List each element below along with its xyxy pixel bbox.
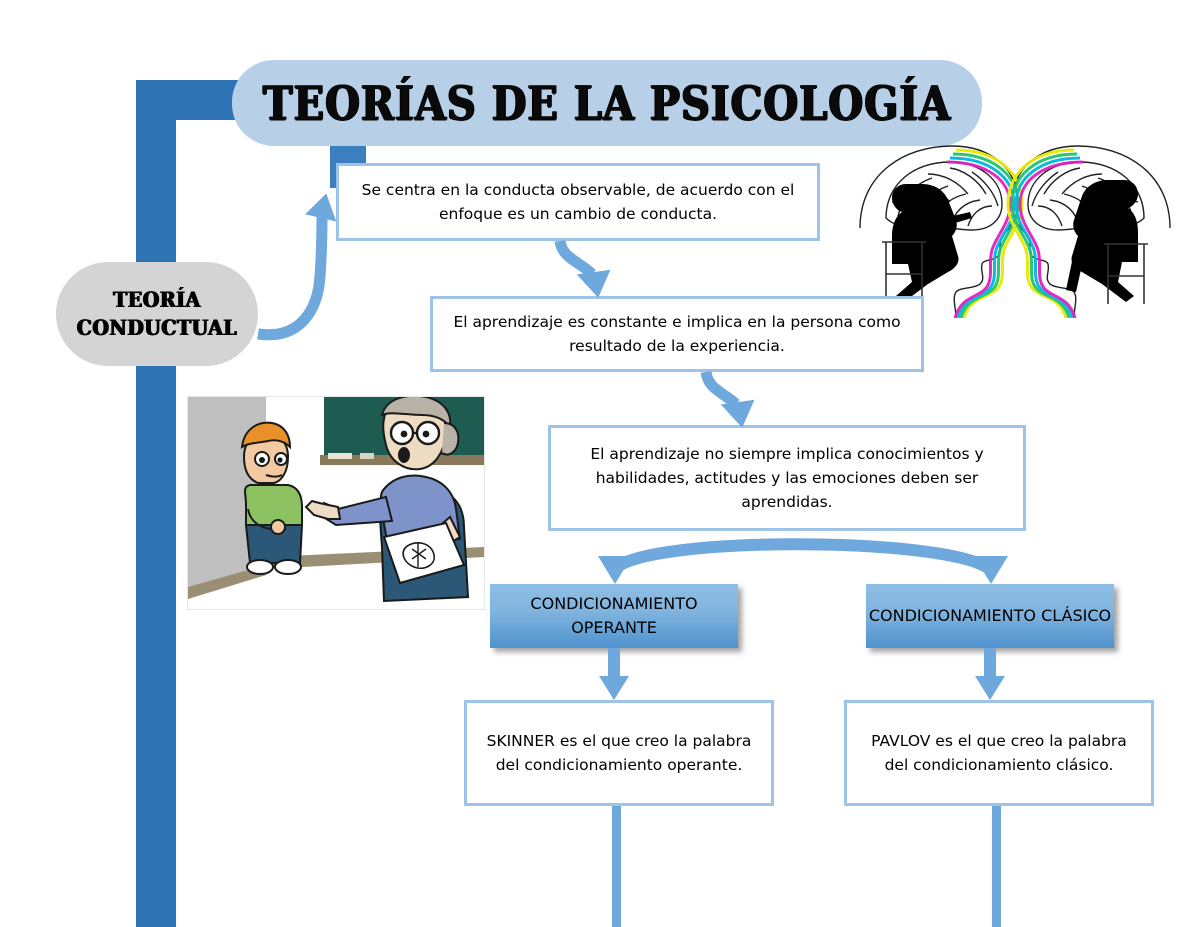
arrow-root-to-box1 <box>258 190 342 335</box>
root-node-label-line1: TEORÍA <box>113 287 201 312</box>
mindmap-canvas: TEORÍAS DE LA PSICOLOGÍA TEORÍA CONDUCTU… <box>0 0 1200 927</box>
text-box-conducta-observable: Se centra en la conducta observable, de … <box>336 163 820 241</box>
trailing-line-right <box>992 806 1001 927</box>
text-box-aprendizaje-emociones: El aprendizaje no siempre implica conoci… <box>548 425 1026 531</box>
text-box-skinner: SKINNER es el que creo la palabra del co… <box>464 700 774 806</box>
arrow-operante-to-skinner <box>599 648 629 700</box>
root-node-teoria-conductual[interactable]: TEORÍA CONDUCTUAL <box>56 262 258 366</box>
arrow-box2-to-box3 <box>706 372 758 430</box>
trailing-line-left <box>612 806 621 927</box>
arrow-box3-branch <box>598 544 1008 584</box>
condicionamiento-operante-box[interactable]: CONDICIONAMIENTO OPERANTE <box>490 584 738 648</box>
page-title: TEORÍAS DE LA PSICOLOGÍA <box>263 75 951 130</box>
condicionamiento-clasico-box[interactable]: CONDICIONAMIENTO CLÁSICO <box>866 584 1114 648</box>
root-node-label-line2: CONDUCTUAL <box>77 315 237 340</box>
arrow-box1-to-box2 <box>560 241 614 300</box>
two-heads-brains-therapy-illustration <box>852 132 1178 318</box>
text-box-pavlov: PAVLOV es el que creo la palabra del con… <box>844 700 1154 806</box>
text-box-aprendizaje-constante: El aprendizaje es constante e implica en… <box>430 296 924 372</box>
left-spine-vertical <box>136 80 176 927</box>
arrow-clasico-to-pavlov <box>975 648 1005 700</box>
teacher-scolding-boy-classroom-illustration <box>187 396 485 610</box>
